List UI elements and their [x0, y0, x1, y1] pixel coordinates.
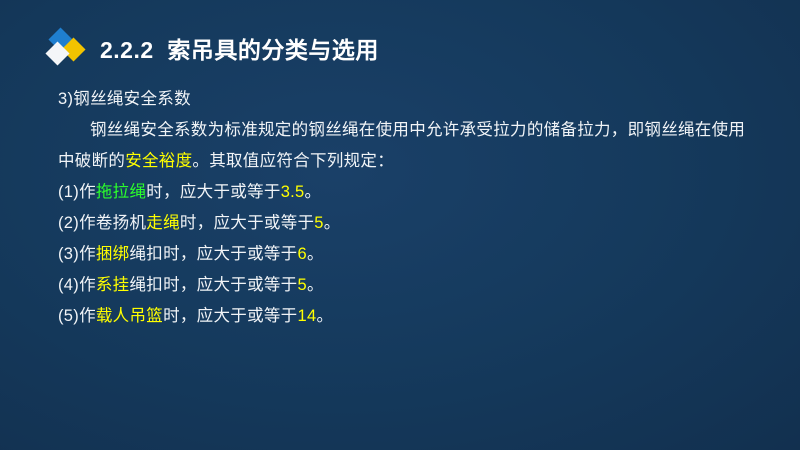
list-item: (3)作捆绑绳扣时，应大于或等于6。	[58, 239, 760, 270]
list-item: (5)作载人吊篮时，应大于或等于14。	[58, 301, 760, 332]
list-item-label: (3)作	[58, 245, 96, 263]
list-item: (2)作卷扬机走绳时，应大于或等于5。	[58, 208, 760, 239]
list-item-label: (5)作	[58, 307, 96, 325]
list-item-term: 走绳	[146, 214, 180, 232]
list-item-term: 拖拉绳	[96, 183, 146, 201]
list-item-middle: 时，应大于或等于	[146, 183, 280, 201]
list-item-term: 捆绑	[96, 245, 130, 263]
list-item-middle: 时，应大于或等于	[163, 307, 297, 325]
list-item-tail: 。	[305, 183, 322, 201]
list-item-value: 3.5	[281, 183, 305, 201]
list-item-tail: 。	[307, 245, 324, 263]
list-item-tail: 。	[324, 214, 341, 232]
list-item: (1)作拖拉绳时，应大于或等于3.5。	[58, 177, 760, 208]
three-diamonds-bullet-icon	[44, 27, 90, 69]
slide-canvas: 2.2.2 索吊具的分类与选用 3)钢丝绳安全系数 钢丝绳安全系数为标准规定的钢…	[0, 0, 800, 450]
list-item-value: 6	[297, 245, 306, 263]
list-item-middle: 时，应大于或等于	[180, 214, 314, 232]
list-item-label: (2)作卷扬机	[58, 214, 146, 232]
list-item-value: 5	[297, 276, 306, 294]
list-item-term: 载人吊篮	[96, 307, 163, 325]
list-item-tail: 。	[316, 307, 333, 325]
page-title: 2.2.2 索吊具的分类与选用	[100, 31, 379, 65]
body-paragraph: 钢丝绳安全系数为标准规定的钢丝绳在使用中允许承受拉力的储备拉力，即钢丝绳在使用中…	[58, 115, 760, 177]
list-item-tail: 。	[307, 276, 324, 294]
paragraph-text-1: 钢丝绳安全系数为标准规定的钢丝绳在使用中允许承受拉力	[90, 121, 527, 139]
list-item-middle: 绳扣时，应大于或等于	[129, 276, 297, 294]
paragraph-text-4: 合下列规定：	[293, 152, 394, 170]
list-item: (4)作系挂绳扣时，应大于或等于5。	[58, 270, 760, 301]
list-item-middle: 绳扣时，应大于或等于	[129, 245, 297, 263]
slide-title-row: 2.2.2 索吊具的分类与选用	[44, 26, 379, 70]
list-item-value: 14	[297, 307, 316, 325]
list-item-term: 系挂	[96, 276, 130, 294]
list-item-label: (1)作	[58, 183, 96, 201]
list-item-label: (4)作	[58, 276, 96, 294]
paragraph-highlight-term: 安全裕度	[125, 152, 192, 170]
slide-body: 3)钢丝绳安全系数 钢丝绳安全系数为标准规定的钢丝绳在使用中允许承受拉力的储备拉…	[58, 84, 760, 332]
paragraph-text-3: 。其取值应符	[192, 152, 293, 170]
body-heading: 3)钢丝绳安全系数	[58, 84, 760, 115]
list-item-value: 5	[314, 214, 323, 232]
